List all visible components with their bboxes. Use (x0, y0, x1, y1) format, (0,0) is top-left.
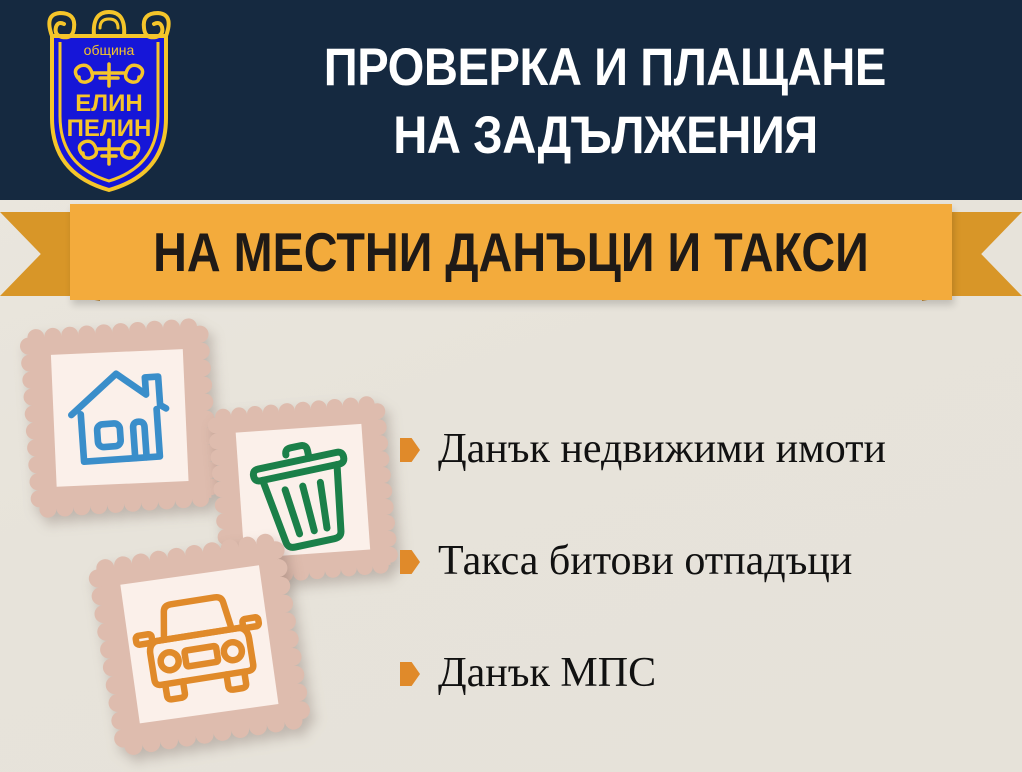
crest-word-line1: ЕЛИН (75, 90, 142, 117)
crest-word-line2: ПЕЛИН (67, 115, 152, 142)
ribbon-label: НА МЕСТНИ ДАНЪЦИ И ТАКСИ (153, 220, 869, 284)
arrow-bullet-icon (400, 662, 420, 686)
stamp-card-vehicle (88, 532, 316, 764)
tax-type-list: Данък недвижими имоти Такса битови отпад… (400, 420, 1010, 756)
list-item: Данък недвижими имоти (400, 420, 1010, 477)
subtitle-ribbon: НА МЕСТНИ ДАНЪЦИ И ТАКСИ (0, 196, 1022, 308)
page-title-line-2: НА ЗАДЪЛЖЕНИЯ (393, 102, 818, 170)
page-title-line-1: ПРОВЕРКА И ПЛАЩАНЕ (324, 34, 886, 102)
arrow-bullet-icon (400, 438, 420, 462)
ribbon-center-band: НА МЕСТНИ ДАНЪЦИ И ТАКСИ (70, 204, 952, 300)
page-title: ПРОВЕРКА И ПЛАЩАНЕ НА ЗАДЪЛЖЕНИЯ (192, 16, 1018, 188)
stamp-card-property (12, 310, 227, 535)
list-item: Данък МПС (400, 644, 1010, 701)
list-item: Такса битови отпадъци (400, 532, 1010, 589)
list-item-label: Данък недвижими имоти (438, 428, 886, 470)
poster-canvas: община ЕЛИН ПЕЛИН ПРОВЕРКА И ПЛАЩАНЕ НА … (0, 0, 1022, 772)
list-item-label: Такса битови отпадъци (438, 540, 852, 582)
municipality-crest-logo: община ЕЛИН ПЕЛИН (26, 6, 192, 196)
crest-word-top: община (84, 42, 135, 58)
arrow-bullet-icon (400, 550, 420, 574)
list-item-label: Данък МПС (438, 652, 656, 694)
